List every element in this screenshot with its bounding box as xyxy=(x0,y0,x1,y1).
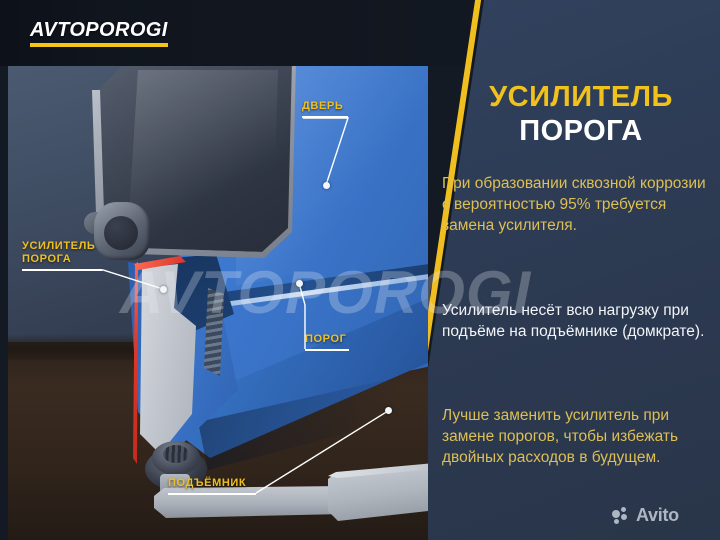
paragraph-load: Усилитель несёт всю нагрузку при подъёме… xyxy=(442,300,714,342)
paragraph-advice: Лучше заменить усилитель при замене поро… xyxy=(442,405,714,468)
callout-lift-dot xyxy=(385,407,392,414)
avito-watermark: Avito xyxy=(612,506,679,524)
paragraph-corrosion: При образовании сквозной коррозии с веро… xyxy=(442,173,714,236)
page-title-line2: ПОРОГА xyxy=(450,114,712,148)
page-title: УСИЛИТЕЛЬ ПОРОГА xyxy=(450,80,712,148)
avito-logo-text: Avito xyxy=(636,506,679,524)
page-title-line1: УСИЛИТЕЛЬ xyxy=(450,80,712,114)
poster-canvas: AVTOPOROGI AVTOPOROGI xyxy=(0,0,720,540)
avito-logo-icon xyxy=(612,507,632,524)
